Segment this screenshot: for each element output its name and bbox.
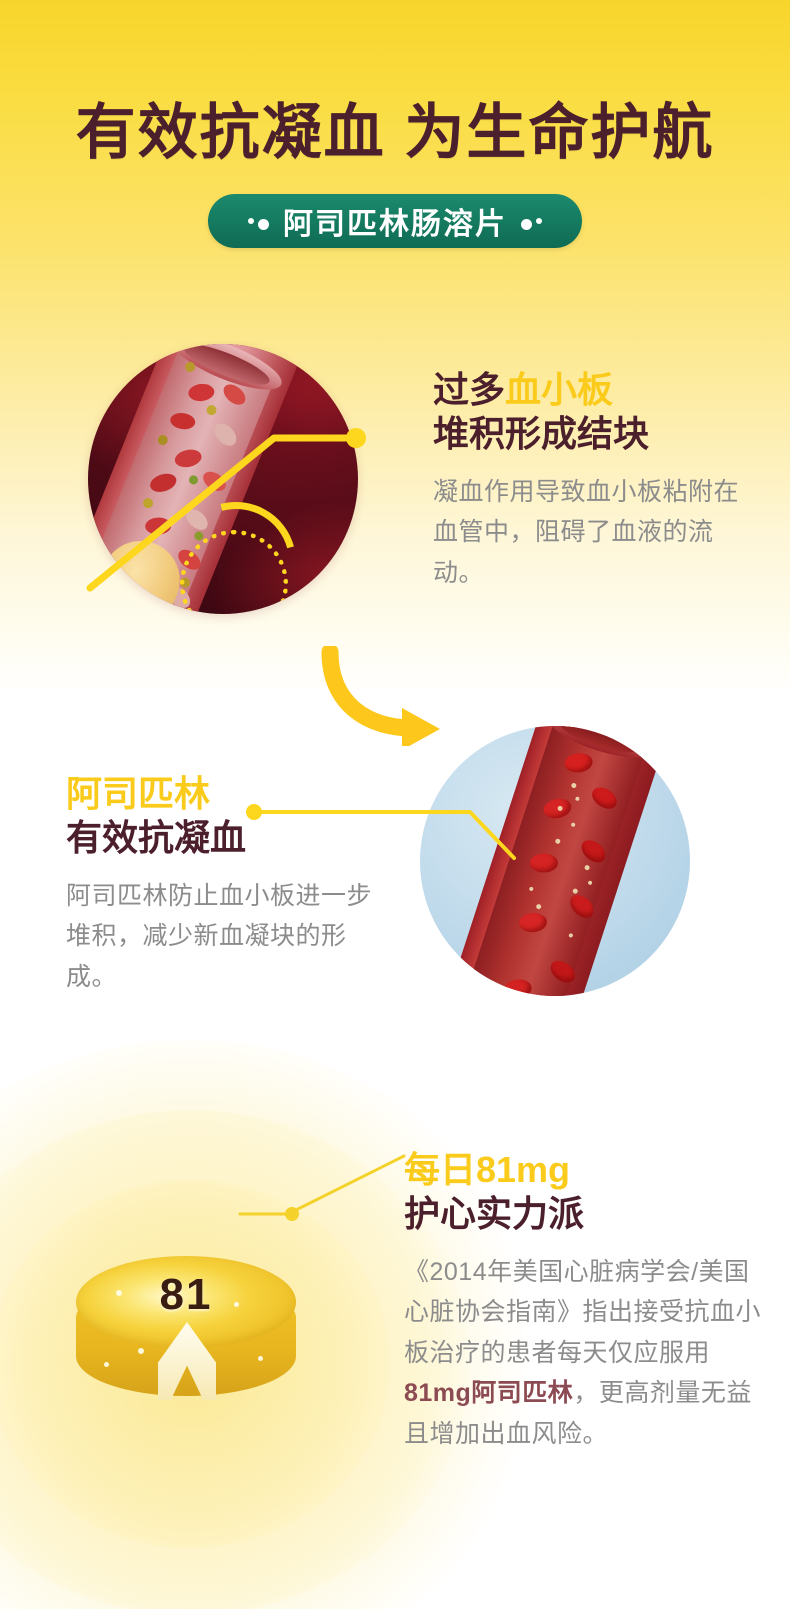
section-2-heading-line-2: 有效抗凝血 <box>66 816 396 860</box>
product-badge-row: 阿司匹林肠溶片 <box>0 194 790 248</box>
product-badge-label: 阿司匹林肠溶片 <box>283 199 507 243</box>
section-1-body: 凝血作用导致血小板粘附在血管中，阻碍了血液的流动。 <box>433 472 763 594</box>
section-aspirin-anticoagulant-text: 阿司匹林 有效抗凝血 阿司匹林防止血小板进一步堆积，减少新血凝块的形成。 <box>66 772 396 997</box>
section-1-heading-line-2: 堆积形成结块 <box>433 412 763 456</box>
product-badge: 阿司匹林肠溶片 <box>208 194 582 248</box>
section-3-body-highlight: 81mg阿司匹林 <box>404 1379 573 1407</box>
heading-highlight: 血小板 <box>505 369 613 410</box>
badge-dots-right-icon <box>521 212 542 230</box>
section-3-heading-line-1: 每日81mg <box>404 1148 764 1192</box>
badge-dots-left-icon <box>248 212 269 230</box>
header: 有效抗凝血 为生命护航 阿司匹林肠溶片 <box>0 0 790 248</box>
flow-arrow-down-icon <box>316 646 456 746</box>
section-excess-platelets-text: 过多血小板 堆积形成结块 凝血作用导致血小板粘附在血管中，阻碍了血液的流动。 <box>433 368 763 593</box>
infographic-page: 有效抗凝血 为生命护航 阿司匹林肠溶片 <box>0 0 790 1609</box>
section-3-body-part-1: 《2014年美国心脏病学会/美国心脏协会指南》指出接受抗血小板治疗的患者每天仅应… <box>404 1258 761 1367</box>
vessel-graphic <box>443 726 673 996</box>
illustration-blood-vessel-with-clot <box>88 344 358 614</box>
illustration-healthy-blood-vessel <box>420 726 690 996</box>
pill-dose-label: 81 <box>76 1270 296 1320</box>
section-2-heading-line-1: 阿司匹林 <box>66 772 396 816</box>
heading-prefix: 过多 <box>433 369 505 410</box>
section-daily-81mg-text: 每日81mg 护心实力派 《2014年美国心脏病学会/美国心脏协会指南》指出接受… <box>404 1148 764 1454</box>
section-1-heading-line-1: 过多血小板 <box>433 368 763 412</box>
section-3-body: 《2014年美国心脏病学会/美国心脏协会指南》指出接受抗血小板治疗的患者每天仅应… <box>404 1252 764 1455</box>
section-2-body: 阿司匹林防止血小板进一步堆积，减少新血凝块的形成。 <box>66 876 396 998</box>
section-3-heading-line-2: 护心实力派 <box>404 1192 764 1236</box>
illustration-golden-pill-81: 81 <box>76 1256 296 1416</box>
page-title: 有效抗凝血 为生命护航 <box>0 100 790 166</box>
